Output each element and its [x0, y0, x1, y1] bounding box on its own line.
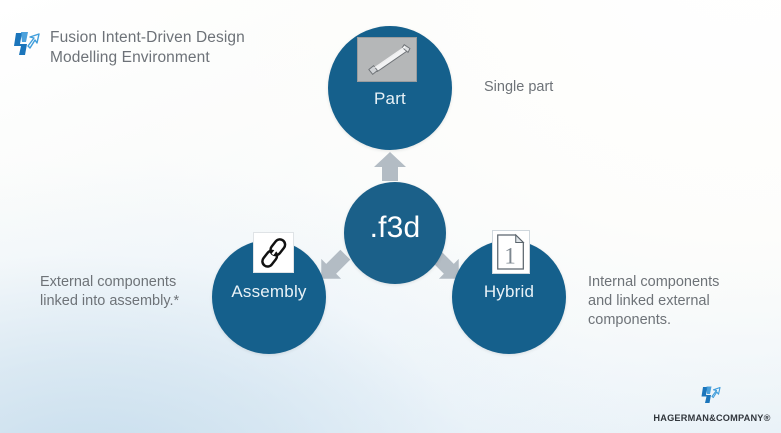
diagram-node-part-label: Part [328, 89, 452, 109]
f3d-file-node-label: .f3d [344, 211, 446, 245]
caption-assembly-line-1: External components [40, 273, 179, 292]
caption-hybrid-line-1: Internal components [588, 273, 719, 292]
diagram-node-assembly-label: Assembly [212, 282, 326, 302]
footer-wordmark: HAGERMAN&COMPANY® [653, 413, 771, 423]
svg-text:1: 1 [504, 243, 515, 268]
chain-link-icon [253, 232, 294, 273]
caption-hybrid-line-3: components. [588, 311, 719, 330]
mechanical-part-icon [357, 37, 417, 82]
caption-part-line-1: Single part [484, 78, 553, 97]
caption-hybrid-line-2: and linked external [588, 292, 719, 311]
document-page-1-icon: 1 [492, 230, 530, 274]
slide-canvas: Fusion Intent-Driven Design Modelling En… [0, 0, 781, 433]
footer-brand: HAGERMAN&COMPANY® [653, 383, 771, 425]
caption-assembly: External components linked into assembly… [40, 273, 179, 311]
arrow-up-icon [370, 150, 410, 184]
caption-part: Single part [484, 78, 553, 97]
page-title-line-2: Modelling Environment [50, 48, 245, 68]
diagram-node-hybrid-label: Hybrid [452, 282, 566, 302]
page-title-line-1: Fusion Intent-Driven Design [50, 28, 245, 48]
f3d-file-node[interactable]: .f3d [344, 182, 446, 284]
caption-assembly-line-2: linked into assembly.* [40, 292, 179, 311]
hagerman-h-arrow-logo [8, 26, 48, 62]
page-title: Fusion Intent-Driven Design Modelling En… [50, 28, 245, 68]
caption-hybrid: Internal components and linked external … [588, 273, 719, 330]
hagerman-h-arrow-logo [697, 383, 727, 407]
